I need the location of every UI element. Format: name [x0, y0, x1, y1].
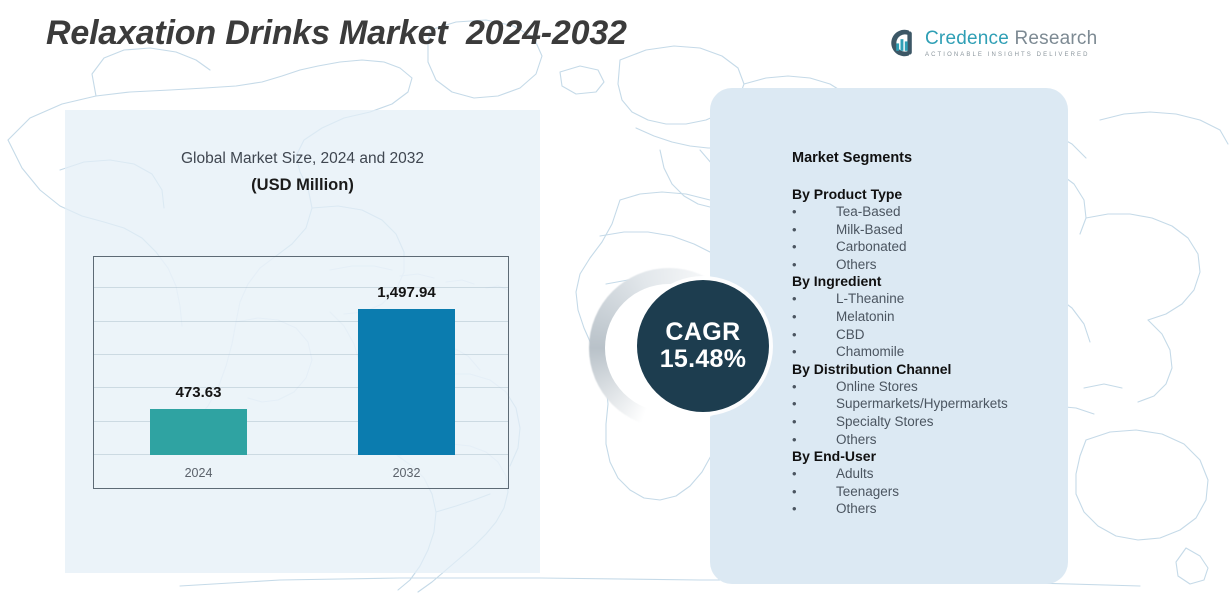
- bullet-icon: •: [792, 203, 836, 221]
- segment-group-heading: By Product Type: [792, 186, 1056, 202]
- bullet-icon: •: [792, 465, 836, 483]
- bullet-icon: •: [792, 431, 836, 449]
- segment-item-label: Tea-Based: [836, 203, 901, 221]
- chart-category-label: 2024: [115, 466, 282, 480]
- bullet-icon: •: [792, 343, 836, 361]
- market-size-panel: Global Market Size, 2024 and 2032 (USD M…: [65, 110, 540, 573]
- chart-plot-area: 473.6320241,497.942032: [94, 257, 508, 488]
- segment-list-item[interactable]: •L-Theanine: [792, 290, 1056, 308]
- brand-wordmark-group: Credence Research Actionable Insights De…: [925, 29, 1097, 58]
- segments-list: Market Segments By Product Type•Tea-Base…: [792, 150, 1056, 518]
- segment-list-item[interactable]: •Supermarkets/Hypermarkets: [792, 395, 1056, 413]
- segment-list-item[interactable]: •Carbonated: [792, 238, 1056, 256]
- segment-list-item[interactable]: •Others: [792, 500, 1056, 518]
- brand-word-credence: Credence: [925, 28, 1009, 49]
- segment-list-item[interactable]: •Specialty Stores: [792, 413, 1056, 431]
- segment-list-item[interactable]: •Chamomile: [792, 343, 1056, 361]
- bar-chart: 473.6320241,497.942032: [93, 256, 509, 489]
- segment-item-label: Teenagers: [836, 483, 899, 501]
- segment-list-item[interactable]: •Teenagers: [792, 483, 1056, 501]
- chart-bar: [358, 309, 455, 455]
- bullet-icon: •: [792, 326, 836, 344]
- segment-list-item[interactable]: •Adults: [792, 465, 1056, 483]
- segment-item-label: L-Theanine: [836, 290, 904, 308]
- segment-item-label: Adults: [836, 465, 874, 483]
- bullet-icon: •: [792, 500, 836, 518]
- bullet-icon: •: [792, 413, 836, 431]
- segments-title: Market Segments: [792, 150, 1056, 166]
- bar-chart-circle-icon: [888, 28, 918, 58]
- cagr-badge: CAGR 15.48%: [589, 268, 769, 428]
- segment-item-label: Others: [836, 431, 877, 449]
- segment-list-item[interactable]: •Melatonin: [792, 308, 1056, 326]
- page-title: Relaxation Drinks Market 2024-2032: [46, 14, 627, 53]
- segment-list-item[interactable]: •CBD: [792, 326, 1056, 344]
- segment-item-label: Supermarkets/Hypermarkets: [836, 395, 1008, 413]
- chart-title-primary: Global Market Size, 2024 and 2032: [65, 150, 540, 168]
- chart-title-units: (USD Million): [65, 176, 540, 195]
- segment-item-label: Milk-Based: [836, 221, 903, 239]
- segment-item-label: Specialty Stores: [836, 413, 934, 431]
- segment-list-item[interactable]: •Others: [792, 431, 1056, 449]
- segment-item-label: Online Stores: [836, 378, 918, 396]
- brand-wordmark: Credence Research: [925, 29, 1097, 48]
- segment-item-label: Others: [836, 500, 877, 518]
- segment-item-label: Melatonin: [836, 308, 895, 326]
- segment-list-item[interactable]: •Tea-Based: [792, 203, 1056, 221]
- segment-list-item[interactable]: •Online Stores: [792, 378, 1056, 396]
- bullet-icon: •: [792, 378, 836, 396]
- brand-tagline: Actionable Insights Delivered: [925, 52, 1097, 58]
- bullet-icon: •: [792, 483, 836, 501]
- brand-logo: Credence Research Actionable Insights De…: [888, 24, 1072, 62]
- chart-category-label: 2032: [323, 466, 490, 480]
- segment-item-label: Carbonated: [836, 238, 907, 256]
- segment-item-label: Others: [836, 256, 877, 274]
- chart-bar-value-label: 473.63: [115, 384, 282, 401]
- bullet-icon: •: [792, 256, 836, 274]
- bullet-icon: •: [792, 395, 836, 413]
- bullet-icon: •: [792, 221, 836, 239]
- chart-bar: [150, 409, 247, 455]
- cagr-label: CAGR: [665, 319, 740, 345]
- segment-item-label: Chamomile: [836, 343, 904, 361]
- segment-group-heading: By Distribution Channel: [792, 361, 1056, 377]
- segment-list-item[interactable]: •Milk-Based: [792, 221, 1056, 239]
- cagr-value: 15.48%: [660, 345, 747, 374]
- bullet-icon: •: [792, 290, 836, 308]
- chart-bar-value-label: 1,497.94: [323, 284, 490, 301]
- segment-group-heading: By End-User: [792, 448, 1056, 464]
- bullet-icon: •: [792, 308, 836, 326]
- segment-group-heading: By Ingredient: [792, 273, 1056, 289]
- brand-word-research: Research: [1014, 28, 1097, 49]
- segment-list-item[interactable]: •Others: [792, 256, 1056, 274]
- segment-item-label: CBD: [836, 326, 865, 344]
- bullet-icon: •: [792, 238, 836, 256]
- cagr-circle: CAGR 15.48%: [637, 280, 769, 412]
